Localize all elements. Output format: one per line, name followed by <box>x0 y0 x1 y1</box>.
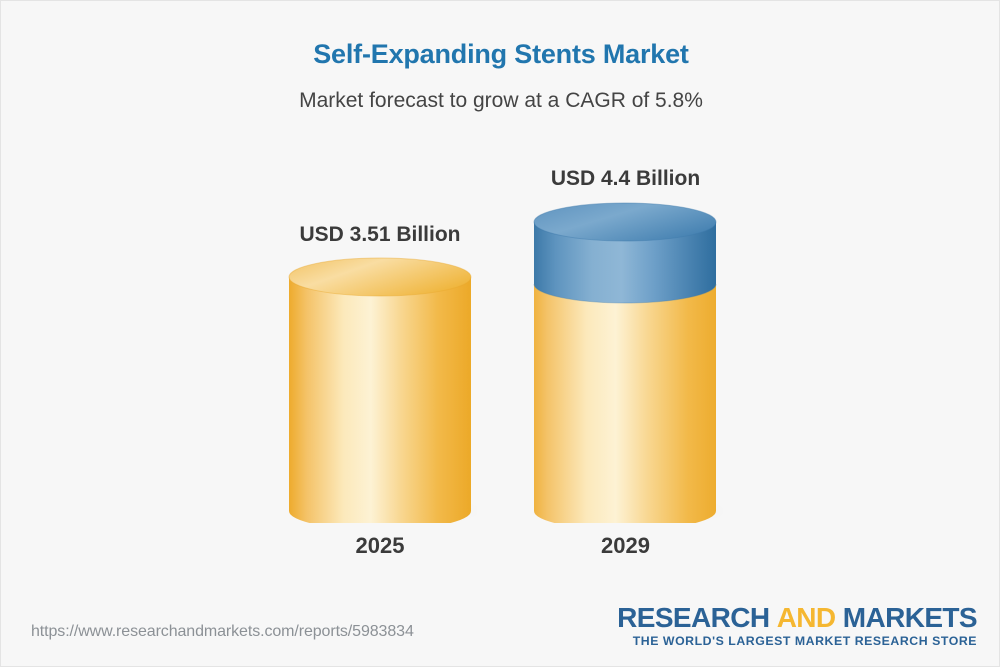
bar-group-2025: USD 3.51 Billion <box>289 1 471 601</box>
source-url[interactable]: https://www.researchandmarkets.com/repor… <box>31 623 414 641</box>
bar-category-label-2025: 2025 <box>289 533 471 559</box>
cylinder-2025-svg <box>283 253 477 523</box>
plot-area: USD 3.51 Billion <box>1 1 1000 601</box>
cylinder-2029-svg <box>528 198 723 523</box>
brand-word-markets: MARKETS <box>843 602 977 633</box>
bar-category-label-2029: 2029 <box>534 533 717 559</box>
brand-wordmark: RESEARCH AND MARKETS <box>617 603 977 632</box>
cylinder-2029 <box>528 198 723 523</box>
bar-value-label-2029: USD 4.4 Billion <box>534 167 717 191</box>
brand-tagline: THE WORLD'S LARGEST MARKET RESEARCH STOR… <box>617 634 977 648</box>
bar-group-2029: USD 4.4 Billion <box>534 1 717 601</box>
brand-word-and: AND <box>777 602 836 633</box>
chart-canvas: Self-Expanding Stents Market Market fore… <box>0 0 1000 667</box>
brand-logo[interactable]: RESEARCH AND MARKETS THE WORLD'S LARGEST… <box>617 603 977 648</box>
brand-word-research: RESEARCH <box>617 602 769 633</box>
cylinder-2025 <box>283 253 477 523</box>
cylinder-body-2025 <box>289 277 471 523</box>
bar-value-label-2025: USD 3.51 Billion <box>289 223 471 247</box>
cylinder-body-base-2029 <box>528 284 723 523</box>
